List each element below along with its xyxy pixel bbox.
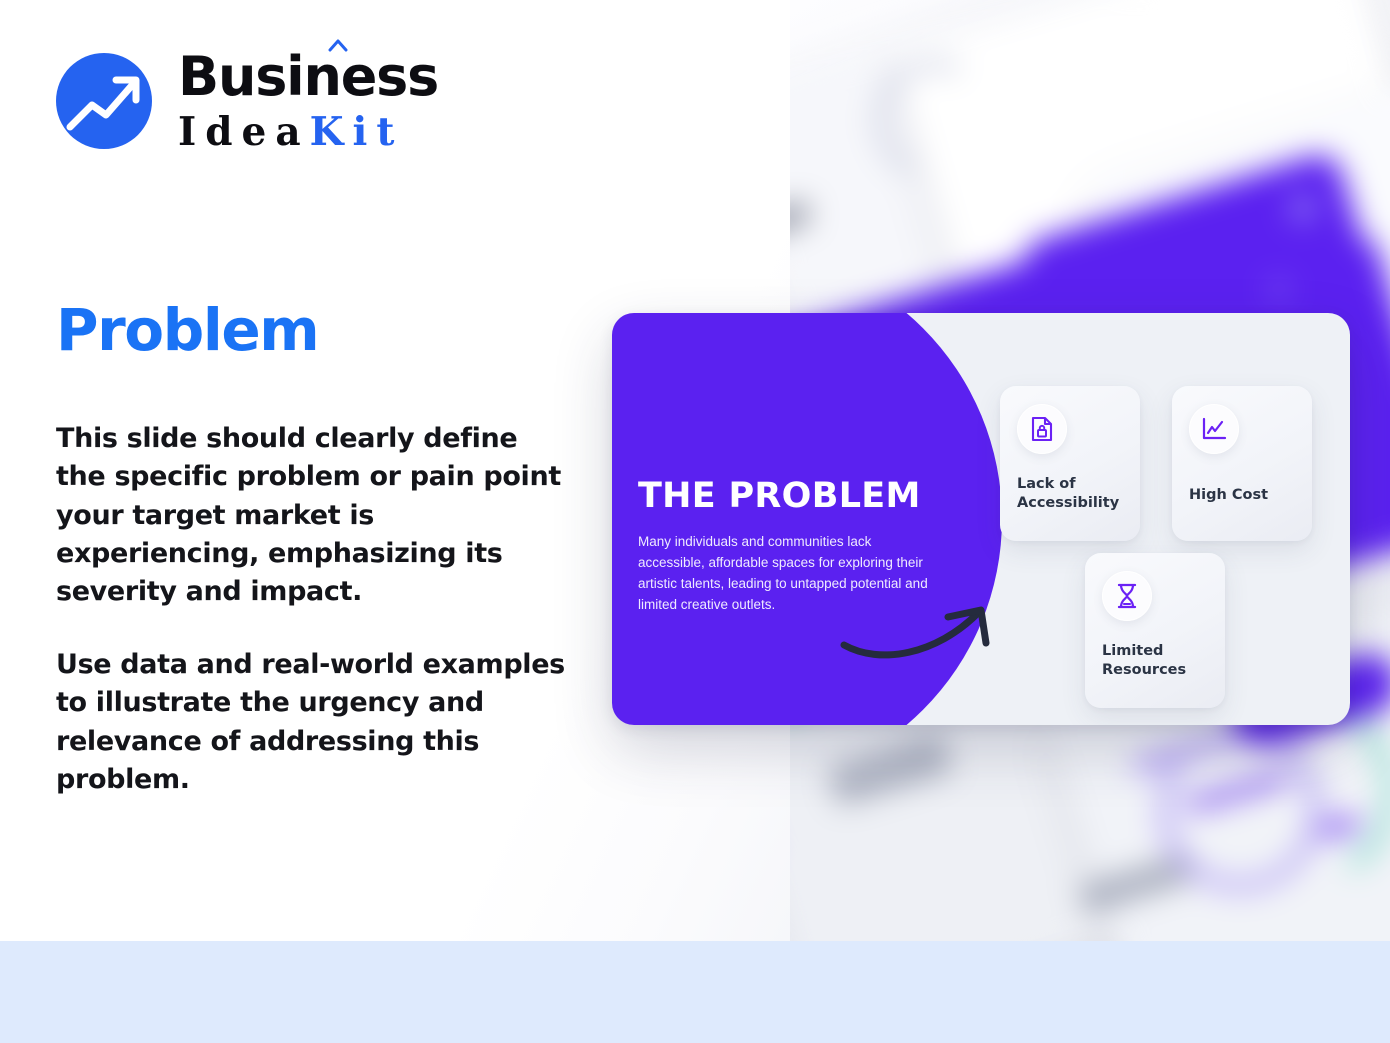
- slide-accent-circle: [612, 313, 1002, 725]
- document-lock-icon: [1017, 404, 1067, 454]
- description-paragraph-two: Use data and real-world examples to illu…: [56, 646, 566, 799]
- circumflex-accent-icon: [328, 38, 348, 52]
- bottom-accent-band: [0, 941, 1390, 1043]
- page-title: Problem: [56, 296, 318, 364]
- brand-wordmark: Business IdeaKit: [178, 50, 438, 152]
- trending-up-arrow-icon: [56, 53, 152, 149]
- line-chart-icon: [1189, 404, 1239, 454]
- page-root: Business IdeaKit Problem This slide shou…: [0, 0, 1390, 1043]
- slide-preview-card[interactable]: THE PROBLEM Many individuals and communi…: [612, 313, 1350, 725]
- curved-arrow-up-right-icon: [840, 593, 1000, 663]
- brand-logo: Business IdeaKit: [56, 50, 438, 152]
- brand-name-top-text: Business: [178, 45, 438, 108]
- description-paragraph-one: This slide should clearly define the spe…: [56, 420, 566, 612]
- feature-card-limited-resources[interactable]: Limited Resources: [1085, 553, 1225, 708]
- feature-card-high-cost[interactable]: High Cost: [1172, 386, 1312, 541]
- hourglass-icon: [1102, 571, 1152, 621]
- brand-name-top: Business: [178, 50, 438, 104]
- slide-title: THE PROBLEM: [638, 476, 921, 516]
- feature-card-lack-of-accessibility[interactable]: Lack of Accessibility: [1000, 386, 1140, 541]
- background-dot-shape: [1290, 195, 1316, 221]
- feature-card-label: High Cost: [1189, 486, 1300, 505]
- feature-card-label: Limited Resources: [1102, 642, 1213, 679]
- brand-name-kit: Kit: [310, 109, 404, 155]
- brand-name-bottom: IdeaKit: [178, 113, 438, 152]
- brand-name-idea: Idea: [178, 109, 310, 155]
- background-dot-shape: [1270, 280, 1288, 298]
- feature-card-label: Lack of Accessibility: [1017, 475, 1128, 512]
